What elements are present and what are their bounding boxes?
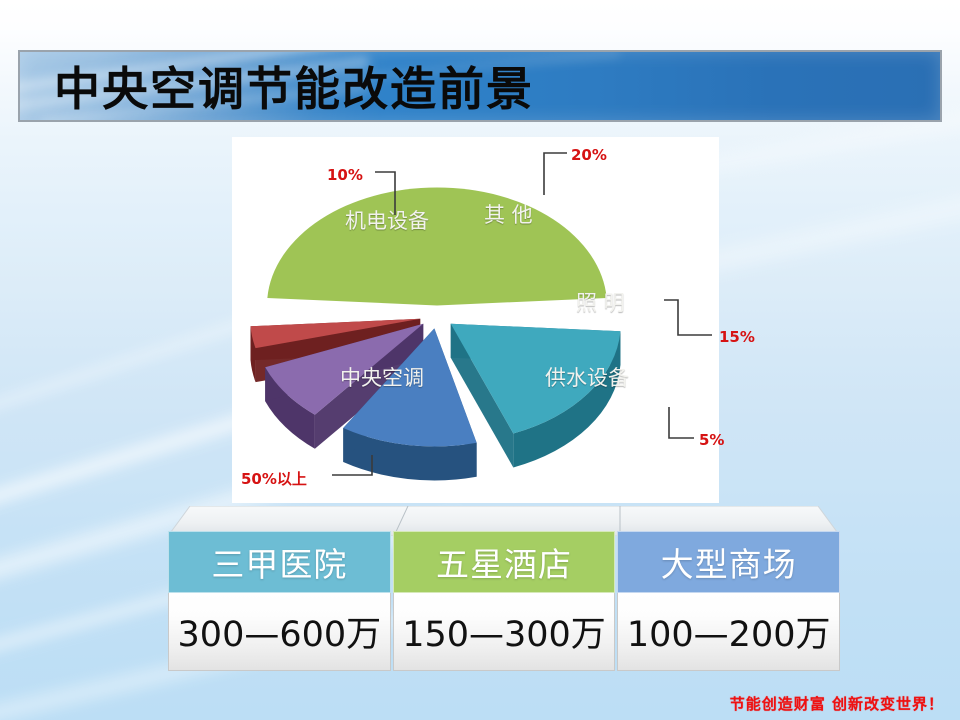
- table-header-cell: 五星酒店: [393, 531, 616, 593]
- table-column-mall: 大型商场 100—200万: [617, 531, 840, 671]
- table-header-cell: 大型商场: [617, 531, 840, 593]
- page-title: 中央空调节能改造前景: [54, 53, 534, 119]
- pie-callout-5: 5%: [699, 431, 724, 449]
- pie-chart: 中央空调 其 他 照 明 机电设备 供水设备 50%以上 20% 15% 10%…: [232, 137, 752, 503]
- pie-slice-label-water-supply: 供水设备: [545, 362, 629, 392]
- pie-leader-line-2: [664, 300, 712, 335]
- pie-chart-svg: [232, 137, 752, 503]
- slide-footer-slogan: 节能创造财富 创新改变世界！: [730, 693, 944, 714]
- table-value-cell: 100—200万: [617, 593, 840, 671]
- pie-callout-50: 50%以上: [241, 468, 307, 489]
- table-value-cell: 300—600万: [168, 593, 391, 671]
- slide: 中央空调节能改造前景 中央空调 其 他 照 明 机电设备 供水设备 50%以上 …: [0, 0, 960, 720]
- pie-slice-label-other: 其 他: [484, 199, 533, 229]
- table-column-hospital: 三甲医院 300—600万: [168, 531, 391, 671]
- title-banner: 中央空调节能改造前景: [18, 50, 942, 122]
- pie-callout-15: 15%: [719, 328, 755, 346]
- pie-slice-label-electromechanical: 机电设备: [345, 205, 429, 235]
- pie-leader-line-4: [669, 407, 694, 438]
- table-value-cell: 150—300万: [393, 593, 616, 671]
- comparison-table: 三甲医院 300—600万 五星酒店 150—300万 大型商场 100—200…: [168, 531, 840, 671]
- pie-callout-20: 20%: [571, 146, 607, 164]
- pie-callout-10: 10%: [327, 166, 363, 184]
- table-column-hotel: 五星酒店 150—300万: [393, 531, 616, 671]
- pie-leader-line-1: [544, 153, 567, 195]
- pie-slice-label-central-ac: 中央空调: [340, 362, 424, 392]
- table-header-cell: 三甲医院: [168, 531, 391, 593]
- pie-slice-label-lighting: 照 明: [576, 287, 625, 317]
